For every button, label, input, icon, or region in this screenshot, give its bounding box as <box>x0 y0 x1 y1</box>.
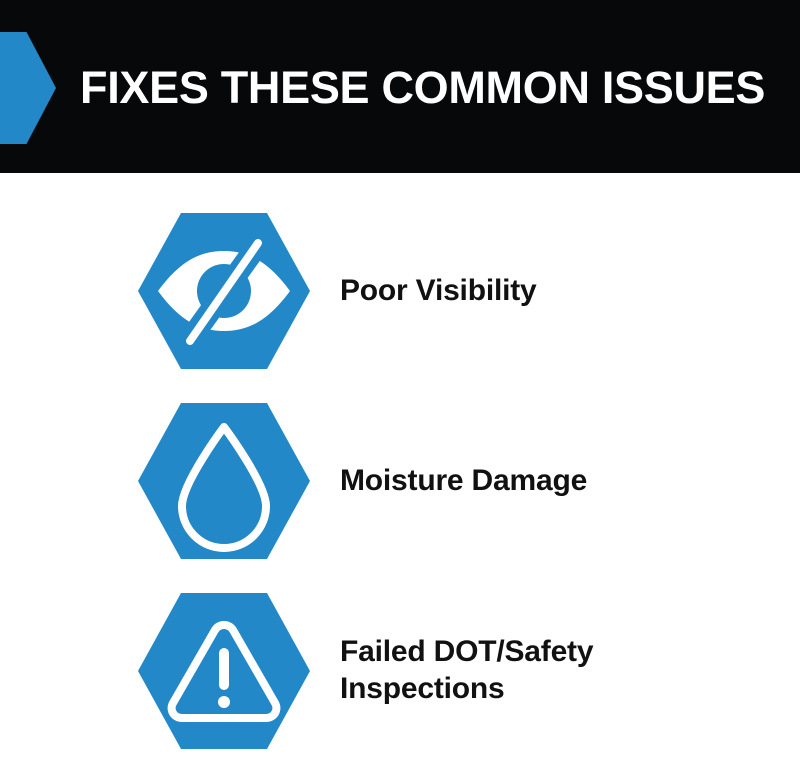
issue-icon-badge <box>138 403 310 559</box>
eye-slash-icon <box>138 213 310 369</box>
list-item: Failed DOT/Safety Inspections <box>0 581 800 761</box>
water-droplet-icon <box>138 403 310 559</box>
issue-label: Moisture Damage <box>340 463 800 500</box>
warning-triangle-icon <box>138 593 310 749</box>
issue-label: Poor Visibility <box>340 273 800 310</box>
list-item: Poor Visibility <box>0 201 800 381</box>
issues-list: Poor Visibility Moisture Damage Failed D… <box>0 173 800 771</box>
header-accent-hexagon-icon <box>0 32 56 144</box>
header-banner: FIXES THESE COMMON ISSUES <box>0 0 800 173</box>
issue-icon-badge <box>138 593 310 749</box>
issue-label: Failed DOT/Safety Inspections <box>340 634 800 707</box>
list-item: Moisture Damage <box>0 391 800 571</box>
page-title: FIXES THESE COMMON ISSUES <box>80 58 780 118</box>
issue-icon-badge <box>138 213 310 369</box>
